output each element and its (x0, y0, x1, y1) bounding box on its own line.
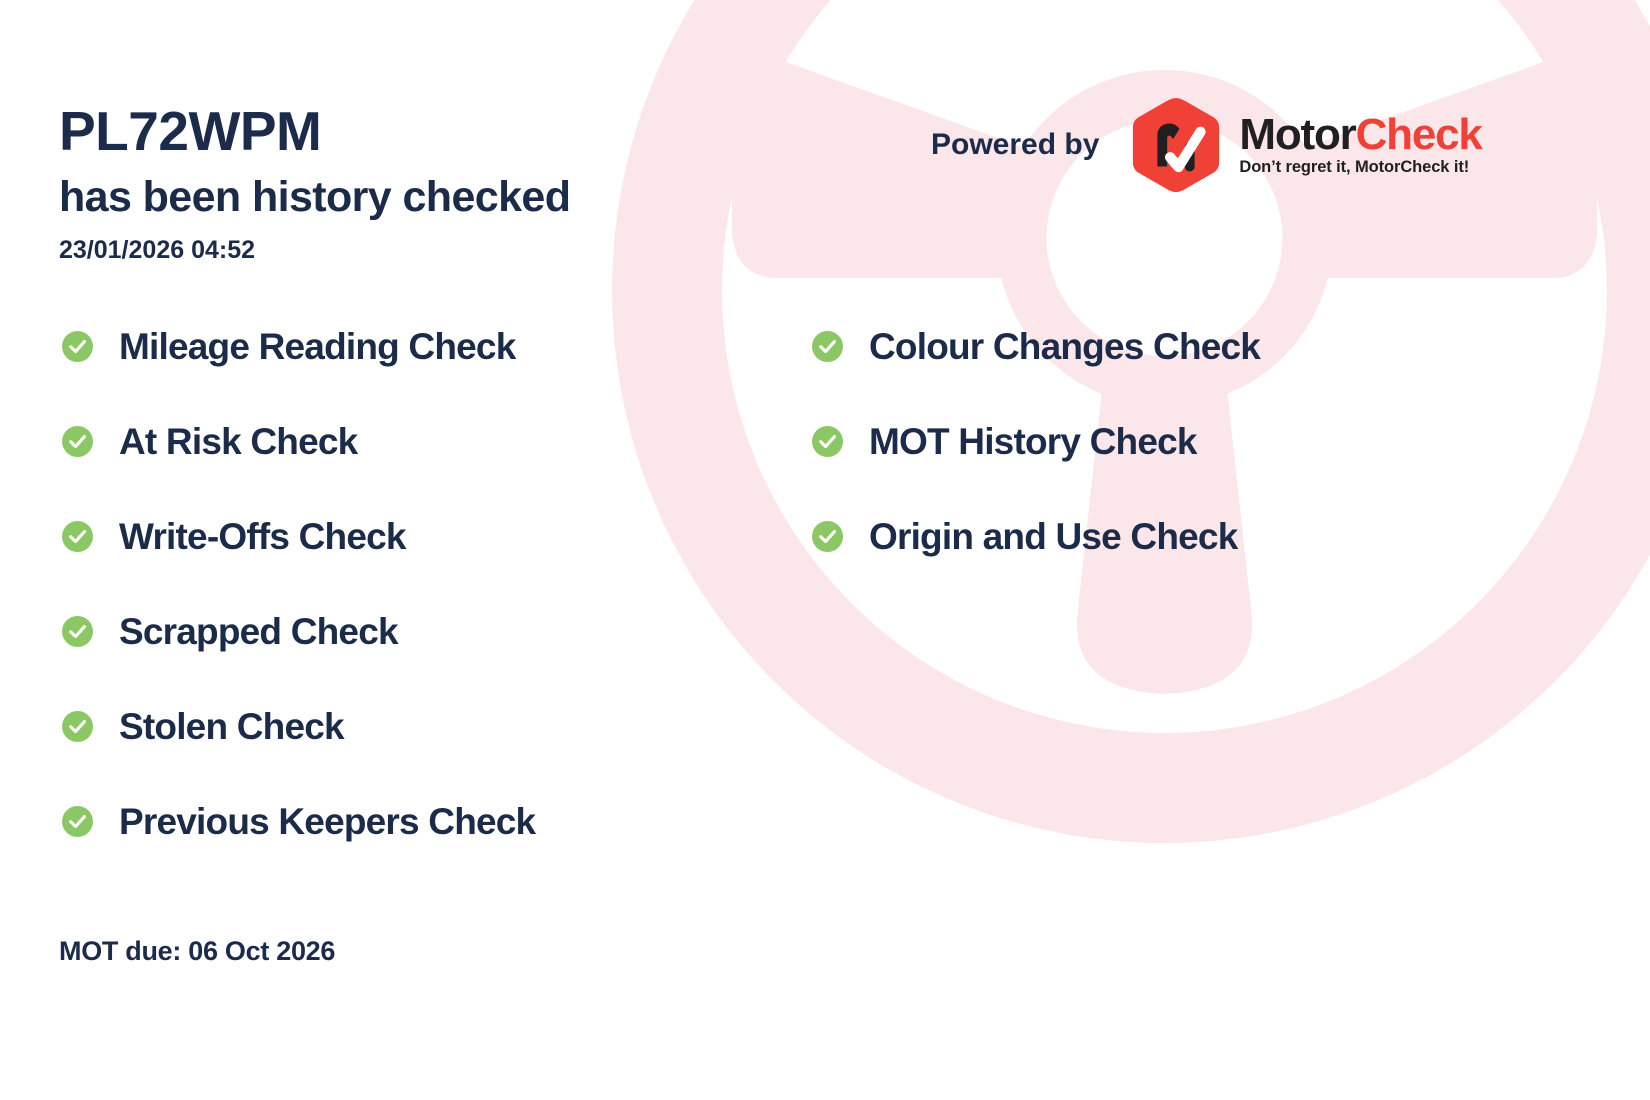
check-label: Previous Keepers Check (119, 803, 535, 840)
check-item-colour-changes: Colour Changes Check (812, 322, 1260, 370)
check-item-previous-keepers: Previous Keepers Check (62, 797, 535, 845)
check-label: Write-Offs Check (119, 518, 406, 555)
wordmark-text: MotorCheck (1239, 113, 1481, 158)
wordmark-check: Check (1356, 110, 1482, 159)
checks-column-left: Mileage Reading Check At Risk Check Writ… (62, 322, 535, 892)
green-check-circle-icon (62, 711, 93, 742)
green-check-circle-icon (62, 426, 93, 457)
powered-by-label: Powered by (931, 128, 1099, 162)
green-check-circle-icon (62, 521, 93, 552)
motorcheck-wordmark: MotorCheck Don’t regret it, MotorCheck i… (1239, 113, 1481, 178)
green-check-circle-icon (62, 616, 93, 647)
check-item-stolen: Stolen Check (62, 702, 535, 750)
vehicle-registration-plate: PL72WPM (59, 104, 321, 159)
check-label: Stolen Check (119, 708, 344, 745)
vehicle-history-check-card: PL72WPM has been history checked 23/01/2… (0, 0, 1650, 1100)
check-item-at-risk: At Risk Check (62, 417, 535, 465)
green-check-circle-icon (812, 331, 843, 362)
check-label: Origin and Use Check (869, 518, 1238, 555)
green-check-circle-icon (812, 521, 843, 552)
powered-by-block: Powered by MotorCheck Don’t regret it, M… (931, 96, 1482, 194)
wordmark-motor: Motor (1239, 110, 1355, 159)
motorcheck-logo[interactable]: MotorCheck Don’t regret it, MotorCheck i… (1127, 96, 1481, 194)
check-item-mileage-reading: Mileage Reading Check (62, 322, 535, 370)
check-label: MOT History Check (869, 423, 1197, 460)
brand-tagline: Don’t regret it, MotorCheck it! (1239, 158, 1481, 177)
check-item-origin-and-use: Origin and Use Check (812, 512, 1260, 560)
check-item-write-offs: Write-Offs Check (62, 512, 535, 560)
check-timestamp: 23/01/2026 04:52 (59, 235, 255, 265)
check-label: Mileage Reading Check (119, 328, 516, 365)
check-item-mot-history: MOT History Check (812, 417, 1260, 465)
green-check-circle-icon (62, 806, 93, 837)
motorcheck-hexagon-logo-icon (1127, 96, 1225, 194)
mot-due-text: MOT due: 06 Oct 2026 (59, 936, 335, 967)
check-label: Scrapped Check (119, 613, 398, 650)
check-label: Colour Changes Check (869, 328, 1260, 365)
green-check-circle-icon (62, 331, 93, 362)
page-title: has been history checked (59, 176, 570, 219)
checks-column-right: Colour Changes Check MOT History Check O… (812, 322, 1260, 607)
check-item-scrapped: Scrapped Check (62, 607, 535, 655)
check-label: At Risk Check (119, 423, 357, 460)
green-check-circle-icon (812, 426, 843, 457)
